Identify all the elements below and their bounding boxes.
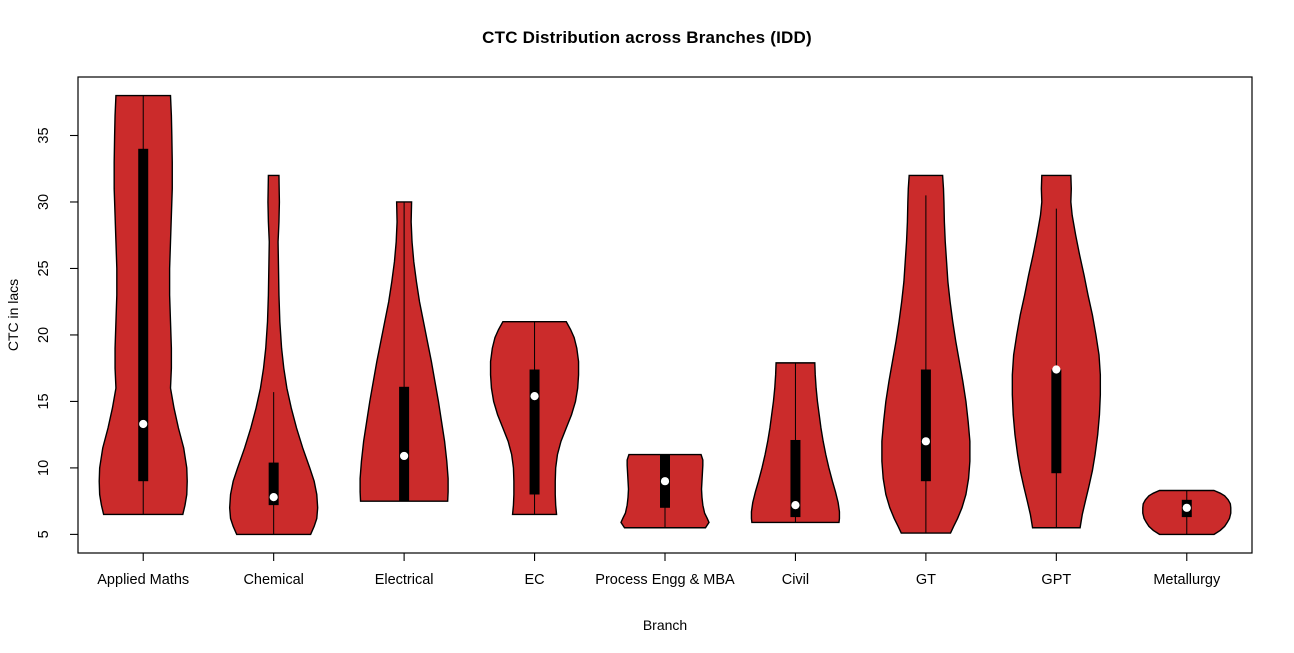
y-tick-label: 20 — [36, 327, 52, 343]
plot-canvas: 5101520253035Applied MathsChemicalElectr… — [0, 0, 1294, 653]
median-point — [400, 452, 408, 460]
y-tick-label: 35 — [36, 127, 52, 143]
x-tick-label: Electrical — [375, 572, 434, 588]
x-tick-label: Process Engg & MBA — [595, 572, 735, 588]
iqr-box — [1051, 370, 1061, 474]
violin-civil — [751, 363, 839, 523]
iqr-box — [921, 370, 931, 482]
violin-plot-figure: CTC Distribution across Branches (IDD) 5… — [0, 0, 1294, 653]
median-point — [791, 501, 799, 509]
y-tick-label: 10 — [36, 460, 52, 476]
violin-process-engg-mba — [621, 455, 709, 528]
x-tick-label: Chemical — [243, 572, 303, 588]
y-axis-title: CTC in lacs — [5, 279, 21, 351]
y-tick-label: 15 — [36, 393, 52, 409]
median-point — [661, 477, 669, 485]
iqr-box — [399, 387, 409, 501]
median-point — [1183, 504, 1191, 512]
x-axis-title: Branch — [643, 617, 687, 633]
y-tick-label: 5 — [36, 530, 52, 538]
iqr-box — [530, 370, 540, 495]
x-tick-label: Civil — [782, 572, 809, 588]
y-tick-label: 25 — [36, 260, 52, 276]
x-tick-label: Metallurgy — [1153, 572, 1221, 588]
iqr-box — [138, 149, 148, 481]
y-tick-label: 30 — [36, 194, 52, 210]
violin-applied-maths — [99, 96, 187, 515]
x-tick-label: Applied Maths — [97, 572, 189, 588]
violin-gt — [882, 175, 970, 533]
violin-ec — [491, 322, 579, 515]
violin-chemical — [230, 175, 318, 534]
violin-metallurgy — [1143, 491, 1231, 535]
median-point — [530, 392, 538, 400]
median-point — [270, 493, 278, 501]
violin-electrical — [360, 202, 448, 501]
median-point — [139, 420, 147, 428]
violin-gpt — [1012, 175, 1100, 527]
x-tick-label: GPT — [1041, 572, 1071, 588]
median-point — [1052, 365, 1060, 373]
median-point — [922, 437, 930, 445]
x-tick-label: GT — [916, 572, 936, 588]
x-tick-label: EC — [524, 572, 544, 588]
violins-layer — [99, 96, 1231, 535]
